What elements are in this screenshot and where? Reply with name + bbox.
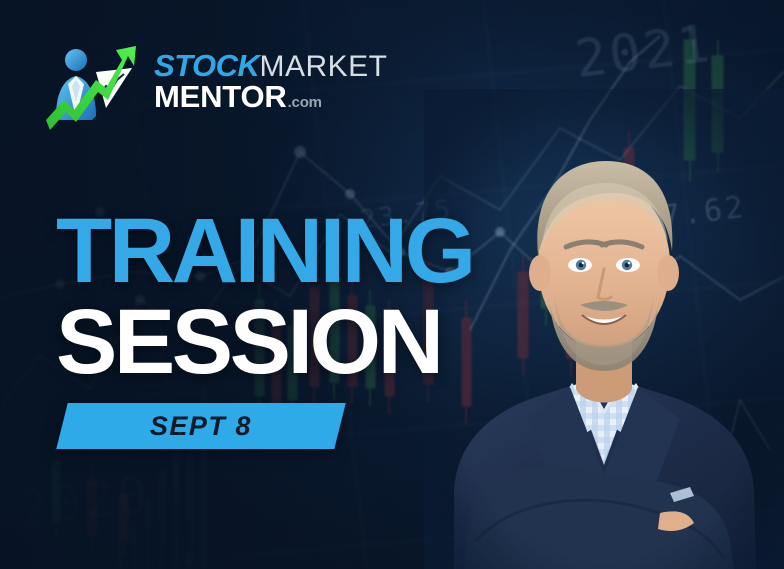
date-badge[interactable]: SEPT 8 [56, 403, 345, 449]
logo-word-dotcom: .com [288, 95, 322, 110]
headline-training: TRAINING [56, 212, 473, 291]
brand-wordmark: STOCK MARKET MENTOR .com [154, 50, 387, 115]
presenter-portrait [424, 89, 784, 569]
date-badge-label: SEPT 8 [150, 411, 252, 442]
headline-block: TRAINING SESSION [56, 212, 473, 382]
logo-word-stock: STOCK [154, 50, 259, 81]
brand-logo[interactable]: STOCK MARKET MENTOR .com [46, 36, 346, 136]
training-session-poster: 2021 2020 97.62 23.75 [0, 0, 784, 569]
headline-session: SESSION [56, 303, 473, 382]
businessman-chart-arrow-icon [46, 38, 138, 134]
logo-word-mentor: MENTOR [154, 81, 287, 112]
logo-word-market: MARKET [259, 52, 387, 82]
